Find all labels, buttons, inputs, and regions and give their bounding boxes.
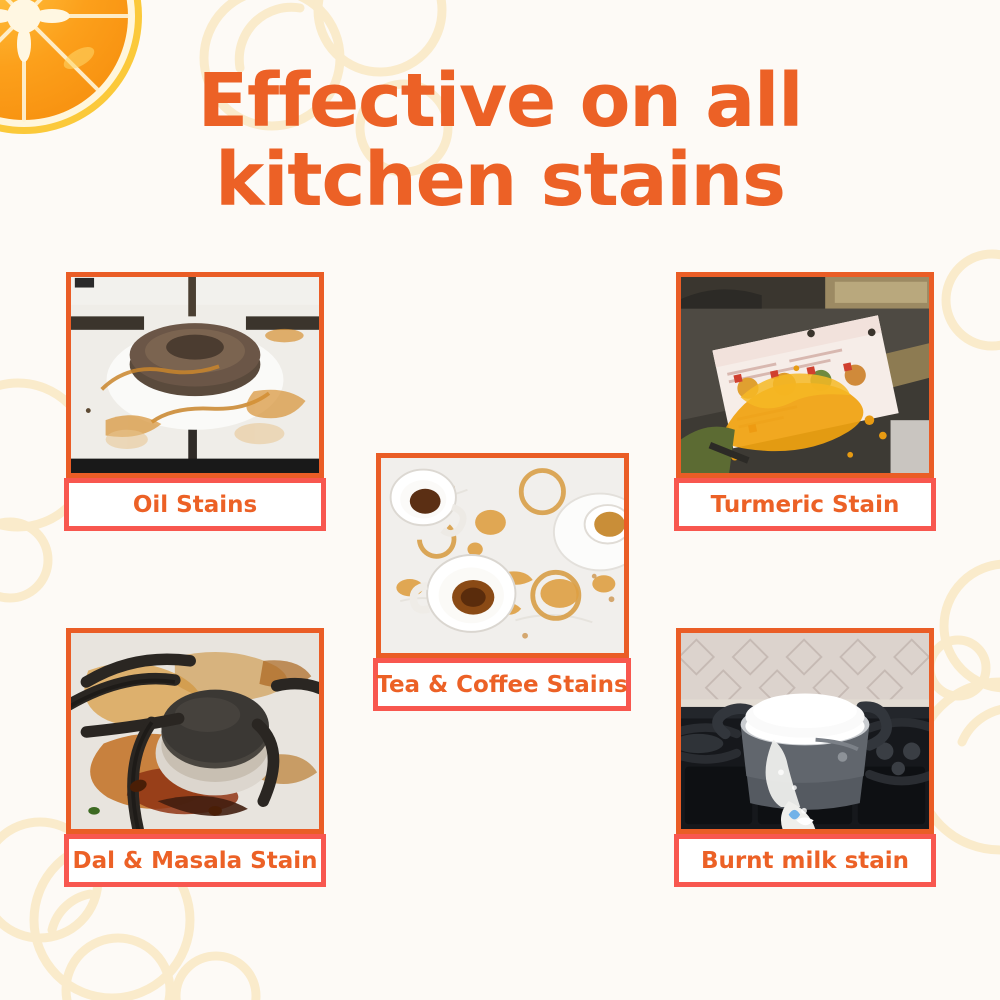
stain-label-text: Turmeric Stain bbox=[711, 492, 900, 518]
stain-card-milk[interactable]: Burnt milk stain bbox=[676, 628, 936, 887]
stain-card-tea[interactable]: Tea & Coffee Stains bbox=[376, 453, 631, 711]
stain-label-text: Tea & Coffee Stains bbox=[376, 672, 627, 698]
stain-label-text: Dal & Masala Stain bbox=[73, 848, 318, 874]
stain-label-turmeric: Turmeric Stain bbox=[674, 478, 936, 531]
stain-label-oil: Oil Stains bbox=[64, 478, 326, 531]
stain-photo-dal bbox=[66, 628, 324, 834]
stain-label-text: Oil Stains bbox=[133, 492, 257, 518]
page-title: Effective on all kitchen stains bbox=[0, 66, 1000, 216]
stain-photo-milk bbox=[676, 628, 934, 834]
stain-label-tea: Tea & Coffee Stains bbox=[373, 658, 631, 711]
page-title-line-1: Effective on all bbox=[0, 66, 1000, 137]
stain-label-text: Burnt milk stain bbox=[701, 848, 909, 874]
stain-photo-oil bbox=[66, 272, 324, 478]
stain-card-dal[interactable]: Dal & Masala Stain bbox=[66, 628, 326, 887]
stain-card-oil[interactable]: Oil Stains bbox=[66, 272, 326, 531]
stain-label-dal: Dal & Masala Stain bbox=[64, 834, 326, 887]
stain-photo-tea bbox=[376, 453, 629, 658]
stain-label-milk: Burnt milk stain bbox=[674, 834, 936, 887]
stain-card-turmeric[interactable]: Turmeric Stain bbox=[676, 272, 936, 531]
page-title-line-2: kitchen stains bbox=[0, 145, 1000, 216]
stain-photo-turmeric bbox=[676, 272, 934, 478]
